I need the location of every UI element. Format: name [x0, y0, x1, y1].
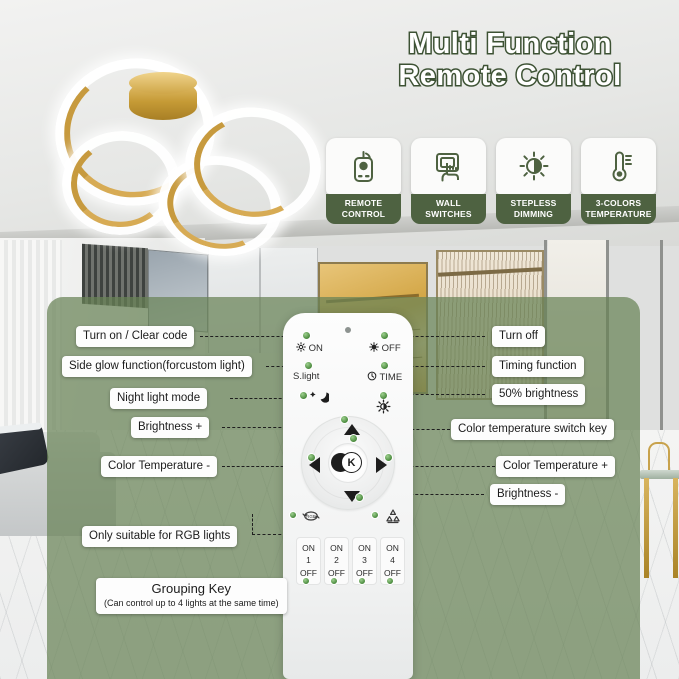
group-on-label: ON: [297, 542, 320, 554]
console-leg-right: [673, 478, 678, 578]
badge-label-line2: CONTROL: [327, 209, 400, 220]
infographic-stage: Multi Function Remote Control REMOTE CON…: [0, 0, 679, 679]
title-line-1: Multi Function: [352, 28, 668, 60]
ir-led-indicator: [345, 327, 351, 333]
dot-group-4: [386, 577, 394, 585]
button-half-brightness[interactable]: [376, 399, 391, 414]
badge-remote-control-label: REMOTE CONTROL: [326, 194, 401, 224]
candelabra: [648, 442, 670, 472]
button-slight-label: S.light: [293, 371, 319, 382]
dot-group-2: [330, 577, 338, 585]
badge-label-line2: DIMMING: [497, 209, 570, 220]
leader-rgb-lights-vert: [252, 514, 253, 535]
button-time-label: TIME: [379, 372, 402, 383]
badge-label-line1: REMOTE: [327, 198, 400, 209]
dot-timing: [380, 361, 389, 370]
button-on-label: ON: [309, 343, 323, 354]
grouping-key-subtitle: (Can control up to 4 lights at the same …: [104, 598, 279, 610]
console-table: [640, 470, 679, 590]
dot-side-glow: [304, 361, 313, 370]
callout-color-temperature-minus: Color Temperature -: [101, 456, 217, 477]
remote-control-icon: [326, 138, 401, 194]
badge-wall-switches-label: WALL SWITCHES: [411, 194, 486, 224]
group-number-label: 1: [297, 554, 320, 566]
dot-turn-on: [302, 331, 311, 340]
callout-side-glow-function: Side glow function(forcustom light): [62, 356, 252, 377]
rgb-cycle-icon[interactable]: RGB: [301, 508, 321, 524]
group-number-label: 2: [325, 554, 348, 566]
callout-night-light-mode: Night light mode: [110, 388, 207, 409]
badge-remote-control: REMOTE CONTROL: [326, 138, 401, 224]
dot-color-temp-plus: [384, 453, 393, 462]
badge-label-line1: WALL: [412, 198, 485, 209]
callout-brightness-plus: Brightness +: [131, 417, 209, 438]
callout-50-brightness: 50% brightness: [492, 384, 585, 405]
badge-3-colors-temperature-label: 3-COLORS TEMPERATURE: [581, 194, 656, 224]
center-key-button[interactable]: K: [329, 444, 367, 482]
button-off-label: OFF: [382, 343, 401, 354]
button-night-light[interactable]: [309, 389, 329, 403]
dot-night-light: [299, 391, 308, 400]
sun-dimming-icon: [496, 138, 571, 194]
group-number-label: 4: [381, 554, 404, 566]
callout-grouping-key: Grouping Key (Can control up to 4 lights…: [96, 578, 287, 614]
dot-color-temp-minus: [307, 453, 316, 462]
dot-brightness-minus: [355, 493, 364, 502]
dot-rgb: [289, 511, 297, 519]
badge-wall-switches: WALL SWITCHES: [411, 138, 486, 224]
button-off[interactable]: OFF: [369, 342, 401, 354]
callout-brightness-minus: Brightness -: [490, 484, 565, 505]
dot-brightness-plus: [340, 415, 349, 424]
badge-label-line2: TEMPERATURE: [582, 209, 655, 220]
thermometer-icon: [581, 138, 656, 194]
group-number-label: 3: [353, 554, 376, 566]
group-on-label: ON: [325, 542, 348, 554]
dot-group-3: [358, 577, 366, 585]
callout-turn-on-clear-code: Turn on / Clear code: [76, 326, 194, 347]
group-on-label: ON: [381, 542, 404, 554]
badge-label-line2: SWITCHES: [412, 209, 485, 220]
lamp-mount-top: [129, 72, 197, 94]
callout-turn-off: Turn off: [492, 326, 545, 347]
dot-ct-switch-key: [349, 434, 358, 443]
badge-stepless-dimming: STEPLESS DIMMING: [496, 138, 571, 224]
button-on[interactable]: ON: [296, 342, 323, 354]
center-key-label: K: [341, 452, 362, 473]
page-title: Multi Function Remote Control: [352, 28, 668, 93]
badge-label-line1: 3-COLORS: [582, 198, 655, 209]
group-on-label: ON: [353, 542, 376, 554]
grouping-key-title: Grouping Key: [152, 581, 232, 596]
directional-pad: K: [301, 416, 395, 510]
dot-group-1: [302, 577, 310, 585]
callout-color-temperature-plus: Color Temperature +: [496, 456, 615, 477]
wall-switch-hand-icon: [411, 138, 486, 194]
feature-badges: REMOTE CONTROL WALL SWITCHES: [326, 138, 656, 224]
button-slight[interactable]: S.light: [293, 371, 319, 382]
callout-color-temperature-switch-key: Color temperature switch key: [451, 419, 614, 440]
badge-stepless-dimming-label: STEPLESS DIMMING: [496, 194, 571, 224]
dot-turn-off: [380, 331, 389, 340]
console-leg-left: [644, 478, 649, 578]
remote-control-device: ON OFF S.light TIME: [283, 313, 413, 679]
svg-text:RGB: RGB: [306, 514, 316, 519]
dot-recycle: [371, 511, 379, 519]
title-line-2: Remote Control: [352, 60, 668, 92]
callout-rgb-lights: Only suitable for RGB lights: [82, 526, 237, 547]
recycle-icon[interactable]: [383, 508, 403, 525]
button-time[interactable]: TIME: [367, 371, 402, 383]
badge-3-colors-temperature: 3-COLORS TEMPERATURE: [581, 138, 656, 224]
ceiling-lamp-product: [30, 38, 330, 218]
callout-timing-function: Timing function: [492, 356, 584, 377]
badge-label-line1: STEPLESS: [497, 198, 570, 209]
